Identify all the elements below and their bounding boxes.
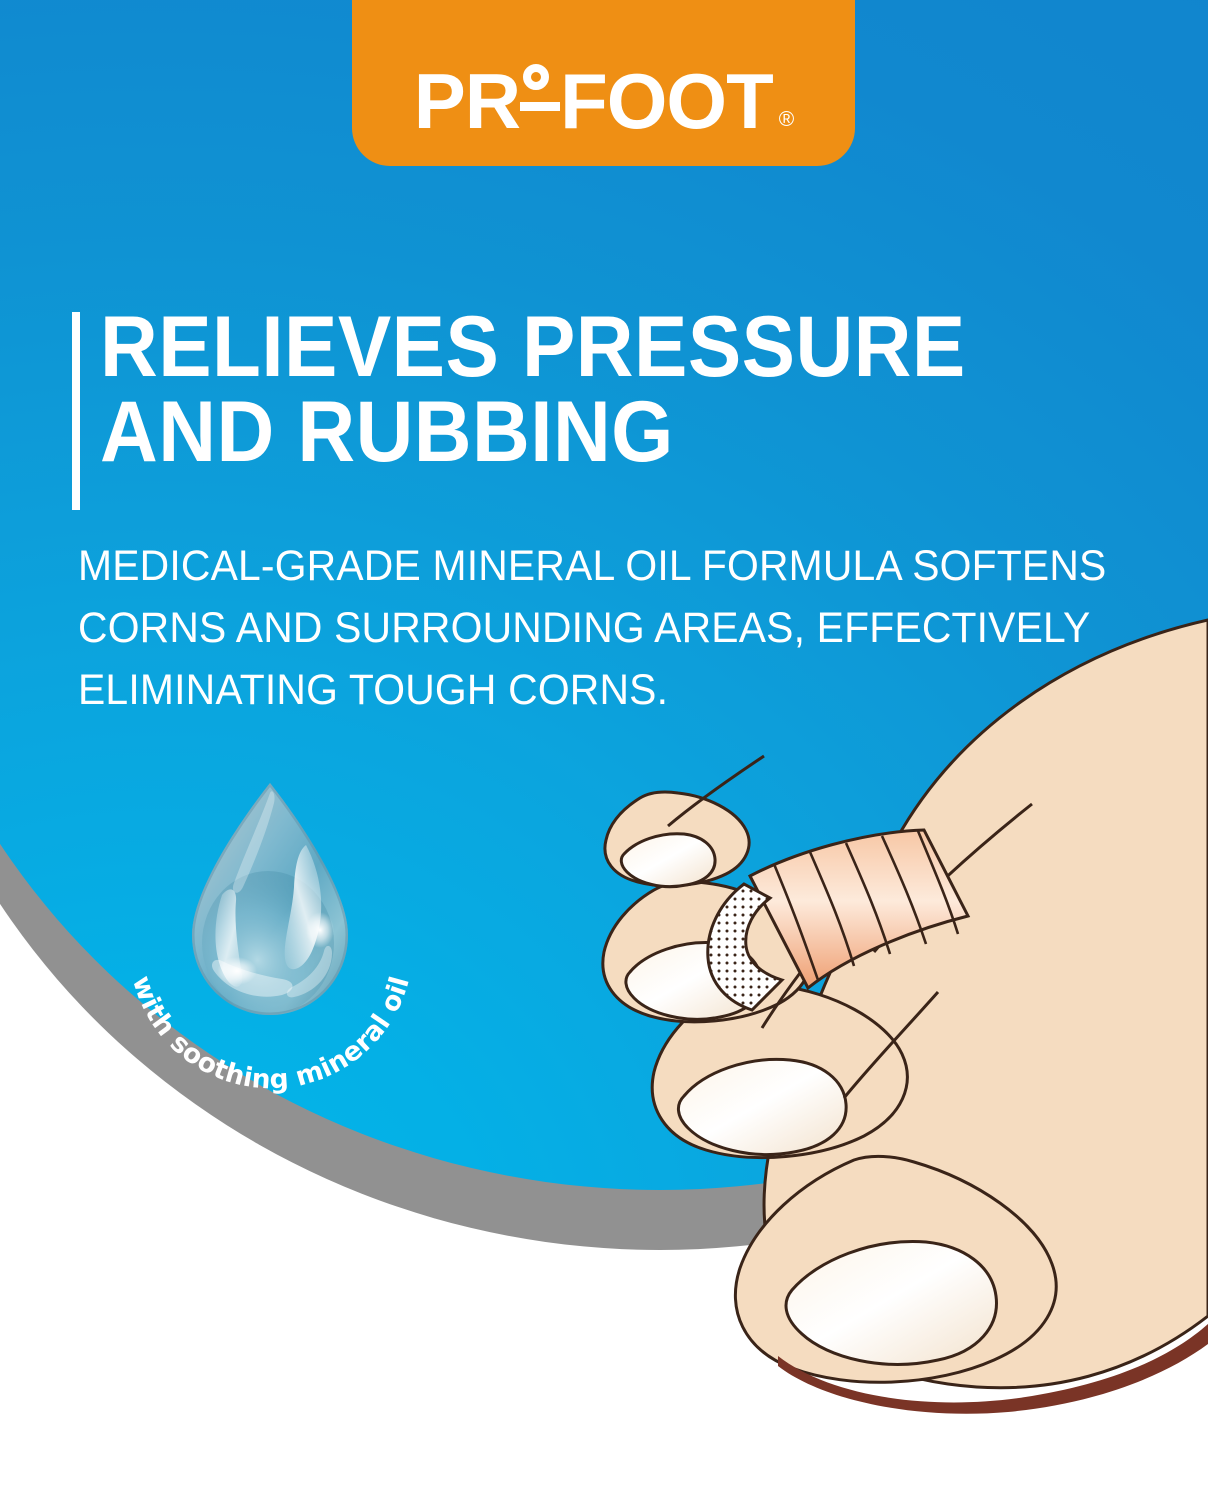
foot-with-toe-cushion-illustration	[596, 560, 1208, 1500]
water-droplet-icon	[110, 775, 430, 1075]
headline-accent-bar	[72, 312, 80, 510]
product-feature-poster: PR FOOT ® RELIEVES PRESSURE AND RUBBING …	[0, 0, 1208, 1500]
wordmark-pr: PR	[414, 62, 520, 140]
profoot-wordmark: PR FOOT ®	[414, 50, 793, 140]
page-title: RELIEVES PRESSURE AND RUBBING	[100, 305, 1086, 475]
headline-line-2: AND RUBBING	[100, 390, 1086, 475]
wordmark-foot: FOOT	[560, 62, 773, 140]
registered-trademark-icon: ®	[779, 109, 793, 130]
headline-line-1: RELIEVES PRESSURE	[100, 305, 1086, 390]
mineral-oil-badge: with soothing mineral oil	[110, 775, 430, 1075]
brand-logo-tab: PR FOOT ®	[352, 0, 855, 166]
foot-outline	[603, 620, 1208, 1414]
o-with-underline-icon	[520, 50, 560, 128]
